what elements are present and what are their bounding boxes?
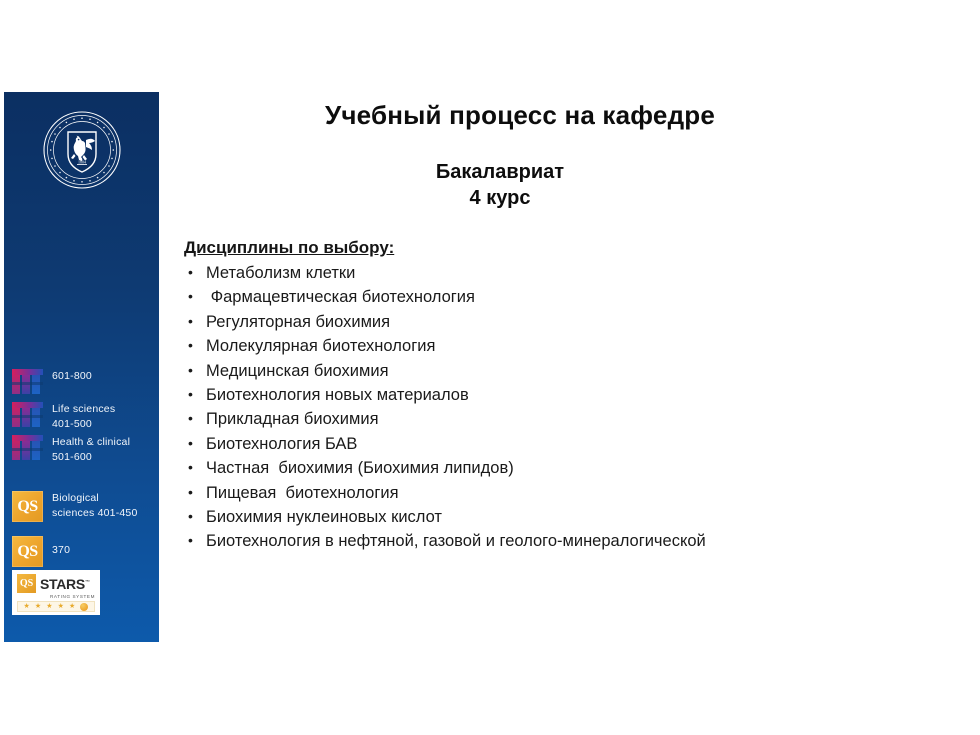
list-item: Биотехнология БАВ [184, 432, 960, 456]
ranking-line: Life sciences [52, 402, 115, 417]
list-item: Метаболизм клетки [184, 261, 960, 285]
rating-dot-icon [80, 603, 88, 611]
slide-content: Учебный процесс на кафедре Бакалавриат 4… [180, 100, 960, 554]
slide-canvas: 1804 601-800 Life sciences 401-500 [0, 0, 980, 735]
ranking-line: sciences 401-450 [52, 506, 138, 521]
star-icon: ★ [35, 603, 41, 610]
star-icon: ★ [24, 603, 30, 610]
list-item: Биотехнология в нефтяной, газовой и геол… [184, 529, 960, 553]
star-icon: ★ [69, 603, 75, 610]
ranking-line: Biological [52, 491, 138, 506]
ranking-label: 601-800 [52, 369, 92, 384]
ranking-row-qs-biological-sciences: QS Biological sciences 401-450 [12, 491, 138, 522]
list-item: Медицинская биохимия [184, 359, 960, 383]
star-icon: ★ [46, 603, 52, 610]
list-item: Прикладная биохимия [184, 407, 960, 431]
list-item: Пищевая биотехнология [184, 481, 960, 505]
ranking-label: Health & clinical 501-600 [52, 435, 130, 465]
the-logo-icon [12, 402, 43, 427]
the-logo-icon [12, 369, 43, 394]
sidebar-panel: 1804 601-800 Life sciences 401-500 [4, 92, 159, 642]
svg-text:1804: 1804 [78, 159, 86, 164]
ranking-line: 370 [52, 543, 70, 558]
qs-logo-icon: QS [12, 491, 43, 522]
page-title: Учебный процесс на кафедре [180, 100, 960, 131]
disciplines-block: Дисциплины по выбору: Метаболизм клетки … [180, 238, 960, 554]
qs-stars-rating-row: ★ ★ ★ ★ ★ [17, 601, 95, 612]
subtitle-line-year: 4 курс [180, 185, 820, 211]
list-item: Молекулярная биотехнология [184, 334, 960, 358]
qs-stars-top: QS STARS™ [17, 574, 95, 593]
ranking-line: Health & clinical [52, 435, 130, 450]
ranking-line: 501-600 [52, 450, 130, 465]
ranking-row-the-overall: 601-800 [12, 369, 92, 394]
qs-stars-word: STARS™ [40, 577, 90, 591]
ranking-line: 401-500 [52, 417, 115, 432]
the-logo-icon [12, 435, 43, 460]
ranking-line: 601-800 [52, 369, 92, 384]
disciplines-list: Метаболизм клетки Фармацевтическая биоте… [184, 261, 960, 554]
qs-logo-icon: QS [12, 536, 43, 567]
subtitle-line-degree: Бакалавриат [180, 159, 820, 185]
list-item: Фармацевтическая биотехнология [184, 285, 960, 309]
list-item: Частная биохимия (Биохимия липидов) [184, 456, 960, 480]
qs-stars-badge: QS STARS™ RATING SYSTEM ★ ★ ★ ★ ★ [12, 570, 100, 615]
qs-logo-icon: QS [17, 574, 36, 593]
ranking-label: Life sciences 401-500 [52, 402, 115, 432]
list-item: Биотехнология новых материалов [184, 383, 960, 407]
list-item: Биохимия нуклеиновых кислот [184, 505, 960, 529]
ranking-label: Biological sciences 401-450 [52, 491, 138, 521]
ranking-label: 370 [52, 543, 70, 558]
ranking-row-qs-overall: QS 370 [12, 536, 70, 567]
slide-subtitle: Бакалавриат 4 курс [180, 159, 960, 211]
ranking-row-the-health-clinical: Health & clinical 501-600 [12, 435, 130, 465]
list-item: Регуляторная биохимия [184, 310, 960, 334]
trademark-mark: ™ [85, 579, 90, 585]
star-icon: ★ [58, 603, 64, 610]
qs-stars-subtitle: RATING SYSTEM [17, 594, 95, 599]
disciplines-heading: Дисциплины по выбору: [184, 238, 960, 258]
qs-stars-wordmark: STARS™ [40, 577, 90, 591]
kazan-federal-university-emblem: 1804 [42, 110, 122, 190]
ranking-row-the-life-sciences: Life sciences 401-500 [12, 402, 115, 432]
